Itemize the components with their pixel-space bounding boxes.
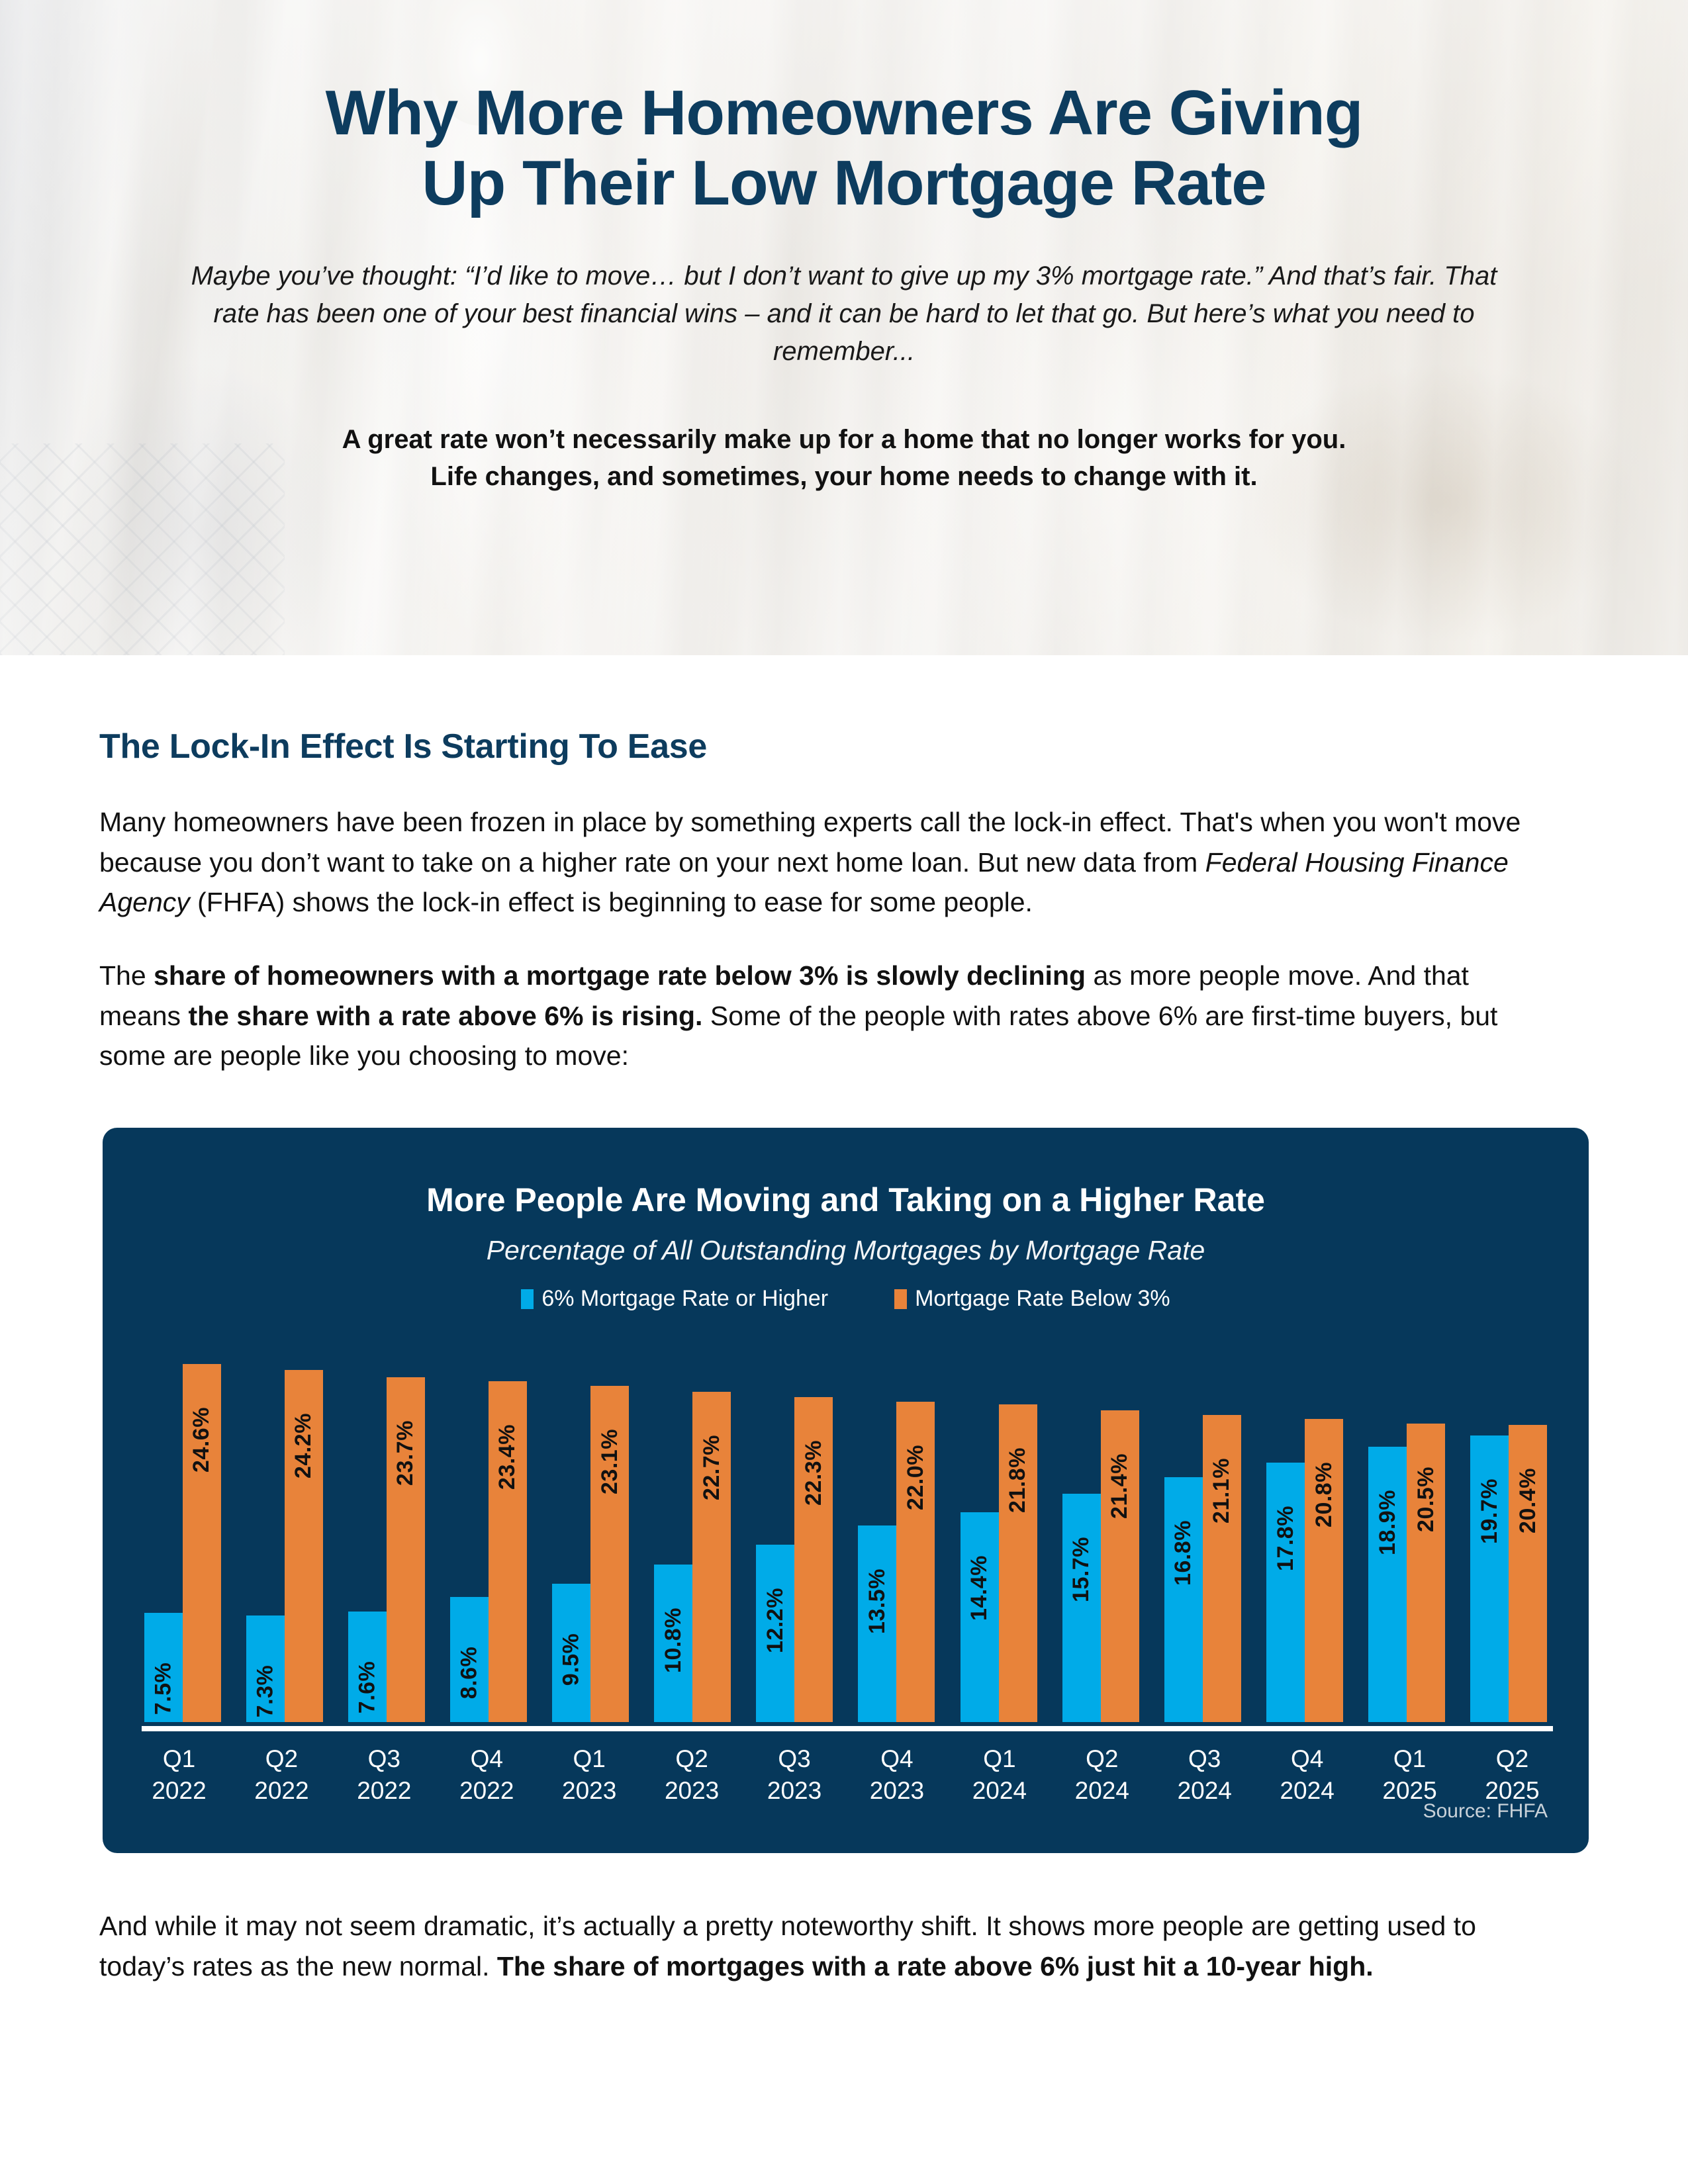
x-tick-label: Q12022 <box>136 1743 222 1807</box>
x-tick-year: 2023 <box>665 1777 719 1804</box>
x-axis-tick-labels: Q12022Q22022Q32022Q42022Q12023Q22023Q320… <box>124 1743 1568 1807</box>
x-tick-label: Q22023 <box>649 1743 735 1807</box>
x-tick-quarter: Q4 <box>1291 1745 1323 1772</box>
bar-value-label: 18.9% <box>1375 1490 1401 1555</box>
legend-swatch-orange-icon <box>894 1289 907 1309</box>
bar-group: 12.2%22.3% <box>756 1343 833 1722</box>
bar-group: 14.4%21.8% <box>961 1343 1037 1722</box>
bar-below-3-percent[interactable]: 24.6% <box>183 1364 221 1722</box>
x-tick-quarter: Q1 <box>983 1745 1015 1772</box>
bar-group: 13.5%22.0% <box>858 1343 935 1722</box>
bar-group: 17.8%20.8% <box>1266 1343 1343 1722</box>
x-tick-quarter: Q1 <box>573 1745 606 1772</box>
paragraph-text-part-b: (FHFA) shows the lock-in effect is begin… <box>190 887 1033 917</box>
x-tick-label: Q32022 <box>341 1743 427 1807</box>
paragraph2-part-a: The <box>99 960 154 991</box>
x-tick-quarter: Q2 <box>1086 1745 1118 1772</box>
bar-groups: 7.5%24.6%7.3%24.2%7.6%23.7%8.6%23.4%9.5%… <box>144 1343 1548 1722</box>
bar-group: 7.3%24.2% <box>246 1343 323 1722</box>
bar-above-6-percent[interactable]: 7.5% <box>144 1613 183 1722</box>
x-tick-quarter: Q4 <box>880 1745 913 1772</box>
x-tick-year: 2022 <box>459 1777 514 1804</box>
bar-below-3-percent[interactable]: 24.2% <box>285 1370 323 1722</box>
bar-below-3-percent[interactable]: 22.3% <box>794 1397 833 1722</box>
x-axis-line <box>142 1726 1553 1731</box>
chart-plot-area: 7.5%24.6%7.3%24.2%7.6%23.7%8.6%23.4%9.5%… <box>124 1332 1568 1722</box>
bar-above-6-percent[interactable]: 10.8% <box>654 1565 692 1722</box>
x-tick-quarter: Q2 <box>1496 1745 1528 1772</box>
x-tick-label: Q12025 <box>1367 1743 1453 1807</box>
bar-above-6-percent[interactable]: 7.6% <box>348 1612 387 1722</box>
bar-value-label: 19.7% <box>1477 1479 1503 1544</box>
bar-above-6-percent[interactable]: 12.2% <box>756 1545 794 1722</box>
bar-below-3-percent[interactable]: 23.4% <box>489 1381 527 1722</box>
x-tick-label: Q22025 <box>1469 1743 1555 1807</box>
bar-below-3-percent[interactable]: 23.7% <box>387 1377 425 1722</box>
bar-below-3-percent[interactable]: 20.4% <box>1509 1425 1547 1722</box>
x-tick-label: Q22024 <box>1059 1743 1145 1807</box>
page-title-line-2: Up Their Low Mortgage Rate <box>422 148 1266 218</box>
bar-below-3-percent[interactable]: 21.4% <box>1101 1410 1139 1722</box>
bar-value-label: 22.7% <box>699 1435 725 1500</box>
bar-value-label: 20.8% <box>1311 1462 1337 1527</box>
hero-intro-paragraph: Maybe you’ve thought: “I’d like to move…… <box>182 257 1506 370</box>
legend-label-orange: Mortgage Rate Below 3% <box>915 1286 1170 1312</box>
chart-source-note: Source: FHFA <box>1423 1800 1548 1823</box>
bar-value-label: 23.1% <box>597 1429 623 1494</box>
bar-value-label: 24.2% <box>291 1413 316 1479</box>
x-tick-label: Q42022 <box>444 1743 530 1807</box>
x-tick-year: 2023 <box>870 1777 924 1804</box>
closing-bold: The share of mortgages with a rate above… <box>497 1951 1374 1981</box>
bar-above-6-percent[interactable]: 18.9% <box>1368 1447 1407 1722</box>
paragraph-lock-in-definition: Many homeowners have been frozen in plac… <box>99 802 1549 923</box>
bar-value-label: 23.7% <box>393 1420 418 1486</box>
bar-value-label: 7.6% <box>354 1661 380 1714</box>
bar-value-label: 21.4% <box>1107 1453 1133 1519</box>
paragraph2-bold-declining: share of homeowners with a mortgage rate… <box>154 960 1086 991</box>
bar-below-3-percent[interactable]: 22.0% <box>896 1402 935 1722</box>
bar-value-label: 20.5% <box>1413 1467 1439 1532</box>
bar-above-6-percent[interactable]: 7.3% <box>246 1615 285 1722</box>
x-tick-label: Q32023 <box>751 1743 837 1807</box>
page-title: Why More Homeowners Are Giving Up Their … <box>156 78 1532 218</box>
bar-above-6-percent[interactable]: 15.7% <box>1062 1494 1101 1722</box>
x-tick-year: 2022 <box>152 1777 206 1804</box>
bar-group: 7.5%24.6% <box>144 1343 221 1722</box>
hero-emphasis-line-2: Life changes, and sometimes, your home n… <box>430 462 1257 491</box>
paragraph2-bold-rising: the share with a rate above 6% is rising… <box>188 1001 702 1031</box>
bar-group: 16.8%21.1% <box>1164 1343 1241 1722</box>
bar-group: 19.7%20.4% <box>1470 1343 1547 1722</box>
bar-below-3-percent[interactable]: 20.8% <box>1305 1419 1343 1722</box>
x-tick-quarter: Q3 <box>778 1745 810 1772</box>
paragraph-closing: And while it may not seem dramatic, it’s… <box>99 1906 1549 2066</box>
bar-value-label: 10.8% <box>661 1608 686 1673</box>
x-tick-year: 2023 <box>767 1777 821 1804</box>
x-tick-year: 2022 <box>254 1777 308 1804</box>
legend-label-blue: 6% Mortgage Rate or Higher <box>541 1286 828 1312</box>
bar-value-label: 13.5% <box>865 1569 890 1634</box>
paragraph-share-trend: The share of homeowners with a mortgage … <box>99 956 1549 1076</box>
chart-legend: 6% Mortgage Rate or Higher Mortgage Rate… <box>103 1286 1589 1312</box>
bar-above-6-percent[interactable]: 19.7% <box>1470 1435 1509 1722</box>
x-tick-label: Q42024 <box>1264 1743 1350 1807</box>
x-tick-year: 2024 <box>1075 1777 1129 1804</box>
x-tick-year: 2023 <box>562 1777 616 1804</box>
x-tick-year: 2024 <box>972 1777 1027 1804</box>
bar-value-label: 8.6% <box>456 1647 482 1700</box>
bar-below-3-percent[interactable]: 21.1% <box>1203 1415 1241 1722</box>
x-tick-year: 2024 <box>1178 1777 1232 1804</box>
legend-item-orange[interactable]: Mortgage Rate Below 3% <box>894 1286 1170 1312</box>
bar-value-label: 15.7% <box>1068 1537 1094 1602</box>
bar-below-3-percent[interactable]: 20.5% <box>1407 1424 1445 1722</box>
chart-subtitle: Percentage of All Outstanding Mortgages … <box>103 1235 1589 1266</box>
bar-value-label: 9.5% <box>559 1633 585 1686</box>
x-tick-quarter: Q1 <box>1393 1745 1426 1772</box>
bar-below-3-percent[interactable]: 22.7% <box>692 1392 731 1722</box>
bar-group: 9.5%23.1% <box>552 1343 629 1722</box>
bar-above-6-percent[interactable]: 9.5% <box>552 1584 590 1722</box>
bar-value-label: 17.8% <box>1273 1506 1299 1571</box>
article-body: The Lock-In Effect Is Starting To Ease M… <box>0 727 1688 2066</box>
chart-title: More People Are Moving and Taking on a H… <box>103 1181 1589 1219</box>
x-tick-label: Q12024 <box>957 1743 1043 1807</box>
hero-banner: Why More Homeowners Are Giving Up Their … <box>0 0 1688 655</box>
bar-group: 18.9%20.5% <box>1368 1343 1445 1722</box>
x-tick-label: Q42023 <box>854 1743 940 1807</box>
hero-emphasis-text: A great rate won’t necessarily make up f… <box>162 421 1526 496</box>
x-tick-year: 2022 <box>357 1777 411 1804</box>
bar-group: 7.6%23.7% <box>348 1343 425 1722</box>
legend-item-blue[interactable]: 6% Mortgage Rate or Higher <box>521 1286 828 1312</box>
bar-above-6-percent[interactable]: 14.4% <box>961 1512 999 1722</box>
x-tick-quarter: Q3 <box>1188 1745 1221 1772</box>
bar-value-label: 23.4% <box>494 1424 520 1490</box>
bar-value-label: 12.2% <box>763 1588 788 1653</box>
bar-value-label: 24.6% <box>189 1407 214 1473</box>
bar-value-label: 16.8% <box>1170 1520 1196 1586</box>
x-tick-quarter: Q2 <box>265 1745 298 1772</box>
bar-below-3-percent[interactable]: 21.8% <box>999 1404 1037 1722</box>
bar-above-6-percent[interactable]: 17.8% <box>1266 1463 1305 1722</box>
bar-value-label: 14.4% <box>966 1555 992 1621</box>
mortgage-rate-bar-chart: More People Are Moving and Taking on a H… <box>103 1128 1589 1853</box>
bar-above-6-percent[interactable]: 8.6% <box>450 1597 489 1722</box>
legend-swatch-blue-icon <box>521 1289 534 1309</box>
bar-above-6-percent[interactable]: 16.8% <box>1164 1477 1203 1722</box>
x-tick-quarter: Q2 <box>675 1745 708 1772</box>
x-tick-year: 2024 <box>1280 1777 1334 1804</box>
x-tick-quarter: Q1 <box>163 1745 195 1772</box>
bar-above-6-percent[interactable]: 13.5% <box>858 1525 896 1722</box>
section-heading: The Lock-In Effect Is Starting To Ease <box>99 727 1589 766</box>
x-tick-label: Q32024 <box>1162 1743 1248 1807</box>
bar-group: 10.8%22.7% <box>654 1343 731 1722</box>
hero-emphasis-line-1: A great rate won’t necessarily make up f… <box>342 425 1346 454</box>
x-tick-label: Q22022 <box>238 1743 324 1807</box>
bar-value-label: 7.5% <box>150 1662 176 1715</box>
x-tick-quarter: Q4 <box>471 1745 503 1772</box>
bar-value-label: 22.3% <box>801 1440 827 1506</box>
bar-value-label: 21.1% <box>1209 1458 1235 1524</box>
bar-group: 15.7%21.4% <box>1062 1343 1139 1722</box>
bar-value-label: 7.3% <box>252 1665 278 1718</box>
x-tick-quarter: Q3 <box>368 1745 400 1772</box>
x-tick-label: Q12023 <box>546 1743 632 1807</box>
bar-value-label: 20.4% <box>1515 1468 1541 1533</box>
bar-group: 8.6%23.4% <box>450 1343 527 1722</box>
bar-value-label: 22.0% <box>903 1445 929 1510</box>
bar-below-3-percent[interactable]: 23.1% <box>590 1386 629 1722</box>
bar-value-label: 21.8% <box>1005 1447 1031 1513</box>
page-title-line-1: Why More Homeowners Are Giving <box>326 77 1363 148</box>
